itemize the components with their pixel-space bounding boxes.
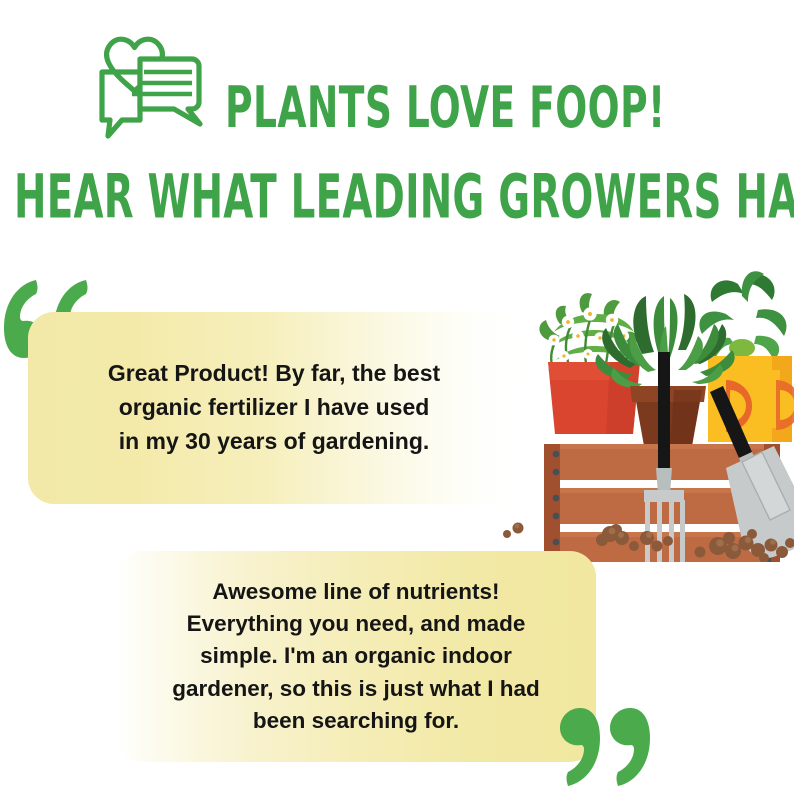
testimonial-card-1: Great Product! By far, the best organic … [28, 312, 520, 504]
yellow-watering-can-group [699, 271, 794, 442]
close-quote-mark-icon [558, 692, 654, 788]
testimonial-text-1: Great Product! By far, the best organic … [94, 357, 454, 458]
testimonial-1-line-3: in my 30 years of gardening. [119, 428, 430, 454]
headline-primary: Plants love Foop! [225, 80, 684, 137]
testimonial-2-line-2: Everything you need, and made [187, 611, 526, 636]
header-section: Plants love Foop! Hear what leading grow… [0, 0, 794, 250]
testimonial-2-line-5: been searching for. [253, 708, 459, 733]
headline-secondary: Hear what leading growers have to say [14, 168, 673, 228]
testimonial-2-line-1: Awesome line of nutrients! [212, 579, 499, 604]
testimonial-2-line-4: gardener, so this is just what I had [172, 676, 540, 701]
testimonial-1-line-2: organic fertilizer I have used [119, 394, 430, 420]
testimonial-2-line-3: simple. I'm an organic indoor [200, 643, 512, 668]
testimonial-1-line-1: Great Product! By far, the best [108, 360, 440, 386]
testimonial-poster: Plants love Foop! Hear what leading grow… [0, 0, 794, 791]
testimonial-text-2: Awesome line of nutrients! Everything yo… [158, 576, 554, 738]
garden-crate-illustration [490, 262, 794, 562]
heart-speech-bubble-icon [88, 28, 213, 143]
testimonial-card-2: Awesome line of nutrients! Everything yo… [116, 551, 596, 762]
